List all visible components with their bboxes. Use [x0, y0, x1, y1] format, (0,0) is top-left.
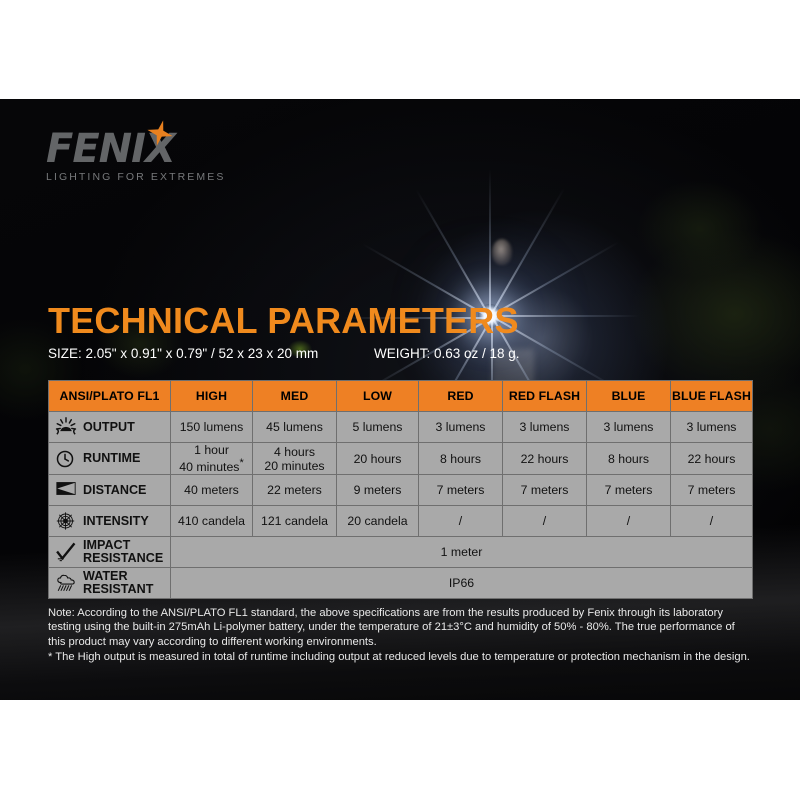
cell-runtime-med: 4 hours 20 minutes [253, 443, 337, 475]
intensity-radial-icon [55, 511, 77, 531]
cell-distance-blue: 7 meters [587, 475, 671, 506]
row-label-text: INTENSITY [83, 514, 149, 528]
column-header-blue: BLUE [587, 381, 671, 412]
row-label-water-resistant: WATER RESISTANT [49, 568, 171, 599]
table-row-distance: DISTANCE 40 meters 22 meters 9 meters 7 … [49, 475, 753, 506]
cell-runtime-high: 1 hour 40 minutes* [171, 443, 253, 475]
cell-water-resistant-value: IP66 [171, 568, 753, 599]
row-label-text: DISTANCE [83, 483, 146, 497]
runtime-high-line2: 40 minutes [179, 460, 239, 474]
cell-intensity-red-flash: / [503, 506, 587, 537]
clock-icon [55, 449, 77, 469]
cell-distance-red: 7 meters [419, 475, 503, 506]
water-label-line1: WATER [83, 569, 128, 583]
cell-distance-red-flash: 7 meters [503, 475, 587, 506]
cell-output-blue-flash: 3 lumens [671, 412, 753, 443]
fenix-logo: FENIX LIGHTING FOR EXTREMES [46, 128, 266, 188]
impact-label-line2: RESISTANCE [83, 551, 163, 565]
cell-runtime-blue: 8 hours [587, 443, 671, 475]
row-label-output: OUTPUT [49, 412, 171, 443]
runtime-high-line1: 1 hour [194, 443, 229, 457]
cell-distance-med: 22 meters [253, 475, 337, 506]
cell-runtime-low: 20 hours [337, 443, 419, 475]
runtime-med-line1: 4 hours [274, 445, 315, 459]
technical-parameters-table: ANSI/PLATO FL1 HIGH MED LOW RED RED FLAS… [48, 380, 753, 599]
row-label-text: RUNTIME [83, 451, 140, 465]
cell-distance-high: 40 meters [171, 475, 253, 506]
cell-intensity-med: 121 candela [253, 506, 337, 537]
cell-distance-low: 9 meters [337, 475, 419, 506]
table-header-row: ANSI/PLATO FL1 HIGH MED LOW RED RED FLAS… [49, 381, 753, 412]
row-label-text: IMPACT RESISTANCE [83, 539, 163, 565]
footnote-marker: * [239, 457, 243, 469]
column-header-red-flash: RED FLASH [503, 381, 587, 412]
column-header-med: MED [253, 381, 337, 412]
cell-runtime-red-flash: 22 hours [503, 443, 587, 475]
cell-intensity-low: 20 candela [337, 506, 419, 537]
runtime-med-line2: 20 minutes [264, 459, 324, 473]
cell-output-red: 3 lumens [419, 412, 503, 443]
cell-intensity-blue: / [587, 506, 671, 537]
cell-output-red-flash: 3 lumens [503, 412, 587, 443]
water-label-line2: RESISTANT [83, 582, 153, 596]
cell-intensity-red: / [419, 506, 503, 537]
column-header-standard: ANSI/PLATO FL1 [49, 381, 171, 412]
rain-cloud-icon [55, 573, 77, 593]
page-title: TECHNICAL PARAMETERS [48, 300, 519, 342]
row-label-text: OUTPUT [83, 420, 135, 434]
impact-check-icon [55, 542, 77, 562]
table-row-output: OUTPUT 150 lumens 45 lumens 5 lumens 3 l… [49, 412, 753, 443]
cell-intensity-high: 410 candela [171, 506, 253, 537]
impact-label-line1: IMPACT [83, 538, 130, 552]
cell-output-med: 45 lumens [253, 412, 337, 443]
cell-runtime-blue-flash: 22 hours [671, 443, 753, 475]
note-footnote: * The High output is measured in total o… [48, 650, 754, 664]
cell-impact-resistance-value: 1 meter [171, 537, 753, 568]
column-header-low: LOW [337, 381, 419, 412]
light-burst-icon [55, 417, 77, 437]
table-row-water-resistant: WATER RESISTANT IP66 [49, 568, 753, 599]
note-main: Note: According to the ANSI/PLATO FL1 st… [48, 606, 754, 649]
row-label-distance: DISTANCE [49, 475, 171, 506]
beam-distance-icon [55, 480, 77, 500]
cell-runtime-red: 8 hours [419, 443, 503, 475]
cell-output-blue: 3 lumens [587, 412, 671, 443]
table-row-impact-resistance: IMPACT RESISTANCE 1 meter [49, 537, 753, 568]
cell-distance-blue-flash: 7 meters [671, 475, 753, 506]
weight-spec-text: WEIGHT: 0.63 oz / 18 g. [374, 346, 520, 361]
row-label-intensity: INTENSITY [49, 506, 171, 537]
cell-output-high: 150 lumens [171, 412, 253, 443]
row-label-runtime: RUNTIME [49, 443, 171, 475]
column-header-blue-flash: BLUE FLASH [671, 381, 753, 412]
cell-intensity-blue-flash: / [671, 506, 753, 537]
logo-tagline: LIGHTING FOR EXTREMES [46, 171, 266, 183]
table-row-intensity: INTENSITY 410 candela 121 candela 20 can… [49, 506, 753, 537]
row-label-text: WATER RESISTANT [83, 570, 153, 596]
table-row-runtime: RUNTIME 1 hour 40 minutes* 4 hours 20 mi… [49, 443, 753, 475]
cell-output-low: 5 lumens [337, 412, 419, 443]
row-label-impact-resistance: IMPACT RESISTANCE [49, 537, 171, 568]
column-header-red: RED [419, 381, 503, 412]
size-spec-text: SIZE: 2.05" x 0.91" x 0.79" / 52 x 23 x … [48, 346, 318, 361]
column-header-high: HIGH [171, 381, 253, 412]
